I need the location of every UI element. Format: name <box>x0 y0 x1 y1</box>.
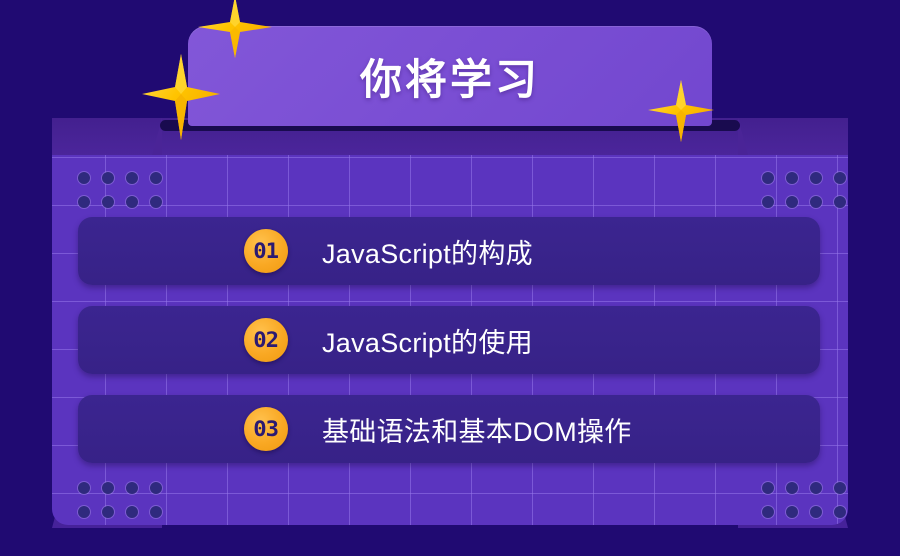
dot <box>762 482 774 494</box>
dot <box>786 482 798 494</box>
dot <box>834 172 846 184</box>
item-number: 03 <box>254 419 279 440</box>
page-title: 你将学习 <box>360 46 540 107</box>
dot <box>126 482 138 494</box>
dot <box>150 172 162 184</box>
item-number-badge: 02 <box>244 318 288 362</box>
dot <box>762 172 774 184</box>
dot <box>150 196 162 208</box>
dot <box>102 196 114 208</box>
dot <box>834 506 846 518</box>
title-banner: 你将学习 <box>188 26 712 126</box>
dot <box>834 482 846 494</box>
item-label: JavaScript的使用 <box>322 321 533 360</box>
dots-bottom-right <box>762 482 846 518</box>
dot <box>786 196 798 208</box>
list-item[interactable]: 03 基础语法和基本DOM操作 <box>78 395 820 463</box>
list-item[interactable]: 01 JavaScript的构成 <box>78 217 820 285</box>
item-label: JavaScript的构成 <box>322 232 533 271</box>
dot <box>78 196 90 208</box>
list-item[interactable]: 02 JavaScript的使用 <box>78 306 820 374</box>
dot <box>786 172 798 184</box>
dot <box>810 196 822 208</box>
item-number: 01 <box>254 241 279 262</box>
dot <box>810 482 822 494</box>
dot <box>786 506 798 518</box>
dots-bottom-left <box>78 482 162 518</box>
dot <box>834 196 846 208</box>
item-number: 02 <box>254 330 279 351</box>
dot <box>78 172 90 184</box>
dot <box>102 482 114 494</box>
dot <box>762 196 774 208</box>
dot <box>810 506 822 518</box>
dot <box>150 506 162 518</box>
dots-top-left <box>78 172 162 208</box>
dot <box>78 506 90 518</box>
dot <box>102 506 114 518</box>
dot <box>126 196 138 208</box>
dots-top-right <box>762 172 846 208</box>
item-label: 基础语法和基本DOM操作 <box>322 410 632 449</box>
item-number-badge: 01 <box>244 229 288 273</box>
dot <box>126 172 138 184</box>
dot <box>150 482 162 494</box>
item-number-badge: 03 <box>244 407 288 451</box>
slide-canvas: 01 JavaScript的构成 02 JavaScript的使用 03 基础语… <box>0 0 900 556</box>
dot <box>102 172 114 184</box>
dot <box>810 172 822 184</box>
dot <box>78 482 90 494</box>
dot <box>126 506 138 518</box>
dot <box>762 506 774 518</box>
